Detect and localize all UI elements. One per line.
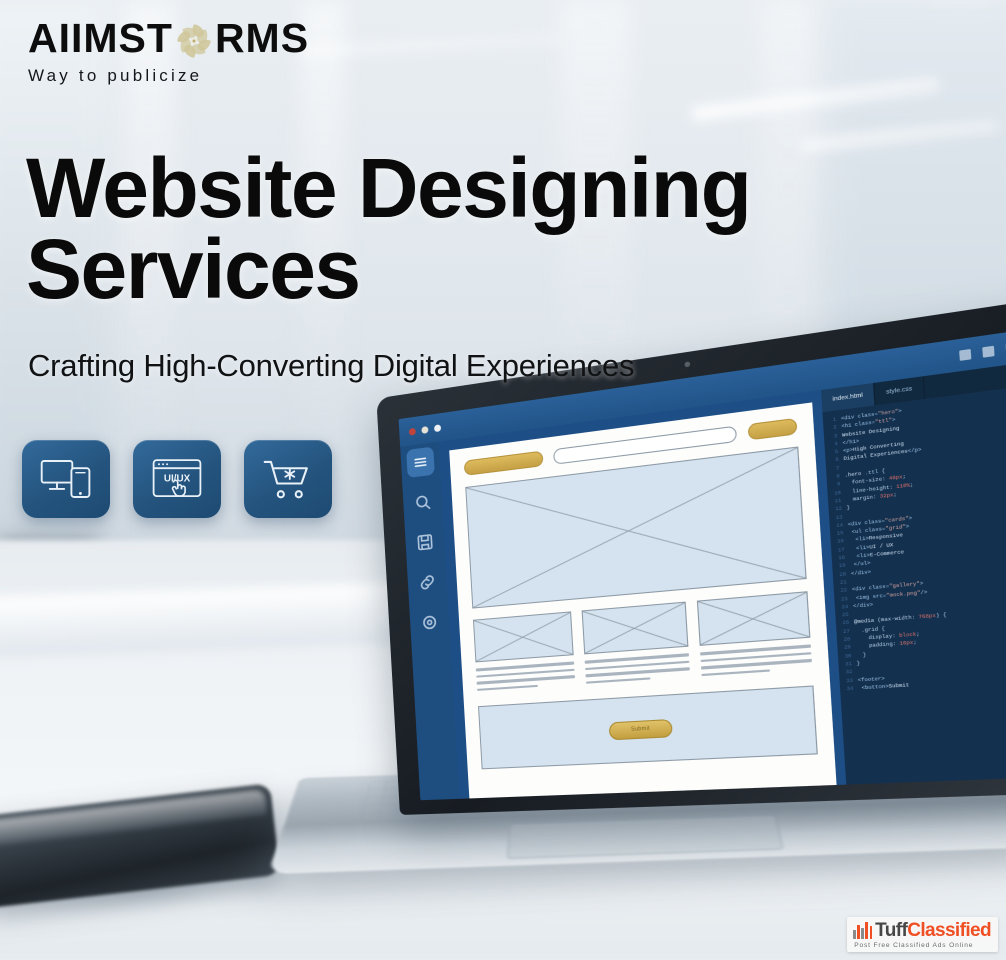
wireframe-footer: Submit bbox=[478, 685, 818, 769]
headline-line-1: Website Designing bbox=[26, 148, 956, 229]
watermark-wordmark: TuffClassified bbox=[875, 921, 991, 940]
design-canvas-wrapper: Submit bbox=[439, 390, 846, 799]
laptop-screen: Submit index.html style.css 1<div class=… bbox=[399, 329, 1006, 800]
wireframe-text-line bbox=[701, 669, 769, 676]
code-editor-lines[interactable]: 1<div class="hero">2<h1 class="ttl">3Web… bbox=[822, 385, 1006, 785]
badge-ui-ux[interactable]: UI/UX bbox=[133, 440, 221, 518]
window-actions bbox=[959, 342, 1006, 360]
bar-chart-icon bbox=[853, 922, 872, 939]
user-icon[interactable] bbox=[959, 348, 971, 360]
wireframe-cta-pill[interactable] bbox=[748, 418, 798, 441]
search-icon[interactable] bbox=[412, 491, 433, 513]
laptop-trackpad bbox=[507, 815, 784, 858]
watermark-row: TuffClassified bbox=[853, 921, 991, 940]
code-line-text bbox=[857, 668, 858, 676]
window-icon[interactable] bbox=[982, 345, 994, 357]
code-line-text bbox=[851, 578, 852, 586]
logo-tagline: Way to publicize bbox=[28, 66, 309, 86]
wireframe-text-line bbox=[586, 677, 650, 684]
brand-logo: AIIMST RMS bbox=[28, 18, 309, 86]
code-line-text: } bbox=[856, 651, 867, 660]
watermark-text-primary: Tuff bbox=[875, 920, 907, 941]
spiral-aperture-icon bbox=[174, 21, 214, 61]
window-maximize-dot[interactable] bbox=[434, 424, 441, 432]
watermark-tagline: Post Free Classified Ads Online bbox=[854, 942, 973, 949]
wireframe-text-line bbox=[477, 684, 537, 691]
service-badges: UI/UX bbox=[22, 440, 332, 518]
window-close-dot[interactable] bbox=[409, 427, 416, 435]
code-line-text: } bbox=[856, 660, 860, 668]
settings-icon[interactable] bbox=[419, 612, 440, 634]
poster-canvas: Submit index.html style.css 1<div class=… bbox=[0, 0, 1006, 960]
wireframe-hero-placeholder[interactable] bbox=[465, 446, 806, 608]
code-line-text bbox=[844, 464, 845, 472]
responsive-design-icon bbox=[39, 458, 93, 500]
wireframe-logo-pill[interactable] bbox=[464, 451, 544, 476]
laptop: Submit index.html style.css 1<div class=… bbox=[330, 395, 1006, 955]
page-title: Website Designing Services bbox=[26, 148, 956, 311]
wireframe-canvas[interactable]: Submit bbox=[449, 402, 836, 798]
code-line-text: </div> bbox=[851, 568, 872, 578]
webcam-icon bbox=[684, 361, 690, 367]
wireframe-column bbox=[582, 602, 691, 688]
menu-icon[interactable] bbox=[410, 451, 430, 473]
page-subtitle: Crafting High-Converting Digital Experie… bbox=[28, 348, 634, 384]
watermark-text-secondary: Classified bbox=[907, 920, 991, 941]
wireframe-column bbox=[473, 611, 576, 695]
code-editor-pane: index.html style.css 1<div class="hero">… bbox=[821, 362, 1006, 785]
code-line-text: } bbox=[847, 505, 851, 514]
logo-wordmark: AIIMST RMS bbox=[28, 18, 309, 59]
headline-line-2: Services bbox=[26, 229, 956, 310]
wireframe-thumb-placeholder[interactable] bbox=[582, 602, 689, 655]
code-line-text bbox=[853, 611, 854, 619]
wireframe-thumb-placeholder[interactable] bbox=[697, 591, 811, 646]
code-line-text bbox=[847, 513, 848, 521]
wireframe-columns bbox=[473, 591, 813, 695]
badge-responsive-design[interactable] bbox=[22, 440, 110, 518]
code-line-text: <button>Submit bbox=[858, 682, 909, 693]
wireframe-column bbox=[697, 591, 813, 680]
save-icon[interactable] bbox=[415, 531, 436, 553]
tuffclassified-watermark[interactable]: TuffClassified Post Free Classified Ads … bbox=[847, 917, 998, 952]
ecommerce-cart-icon bbox=[262, 456, 314, 502]
wireframe-thumb-placeholder[interactable] bbox=[473, 611, 574, 662]
link-icon[interactable] bbox=[417, 571, 438, 593]
ui-ux-icon: UI/UX bbox=[150, 456, 204, 502]
window-minimize-dot[interactable] bbox=[421, 426, 428, 434]
code-line-number: 34 bbox=[844, 685, 854, 694]
badge-ecommerce[interactable] bbox=[244, 440, 332, 518]
code-line-text: </div> bbox=[853, 601, 874, 611]
logo-text-part1: AIIMST bbox=[28, 18, 173, 59]
wireframe-submit-button[interactable]: Submit bbox=[609, 718, 673, 739]
logo-text-part2: RMS bbox=[215, 18, 309, 59]
